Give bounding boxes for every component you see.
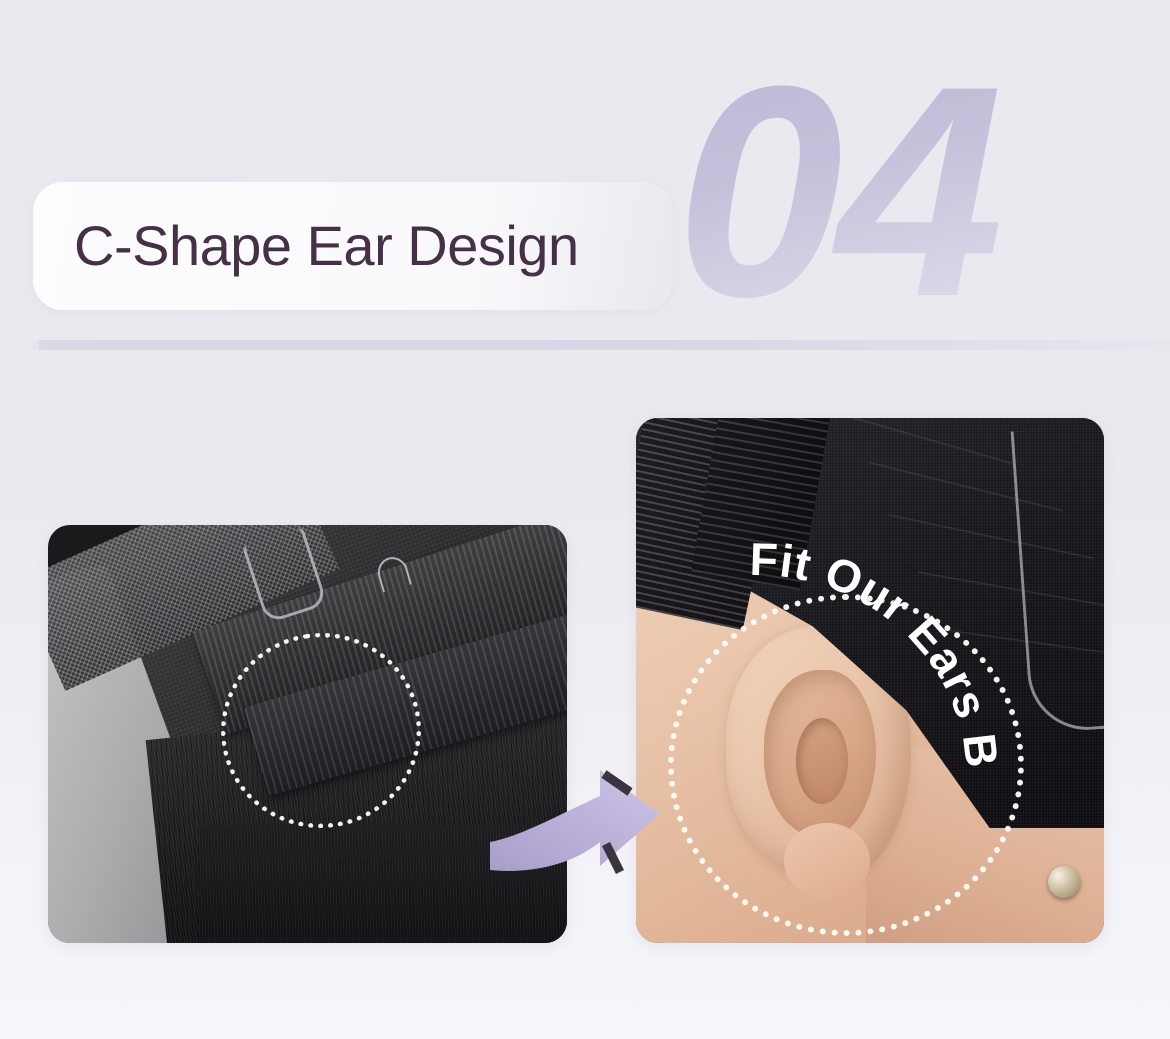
arrow-body bbox=[490, 770, 660, 871]
title-card: C-Shape Ear Design bbox=[33, 182, 673, 310]
earring-stud bbox=[1048, 866, 1080, 898]
right-product-photo: Fit Our Ears Better bbox=[636, 418, 1104, 943]
weft-line bbox=[839, 418, 1013, 466]
flow-arrow-icon bbox=[488, 762, 688, 882]
page-title: C-Shape Ear Design bbox=[74, 212, 579, 280]
step-number: 04 bbox=[676, 46, 1170, 346]
highlight-circle bbox=[668, 594, 1024, 936]
title-divider-cap bbox=[32, 340, 39, 350]
product-feature-slide: 04 04 C-Shape Ear Design bbox=[0, 0, 1170, 1039]
title-divider bbox=[32, 340, 1170, 350]
